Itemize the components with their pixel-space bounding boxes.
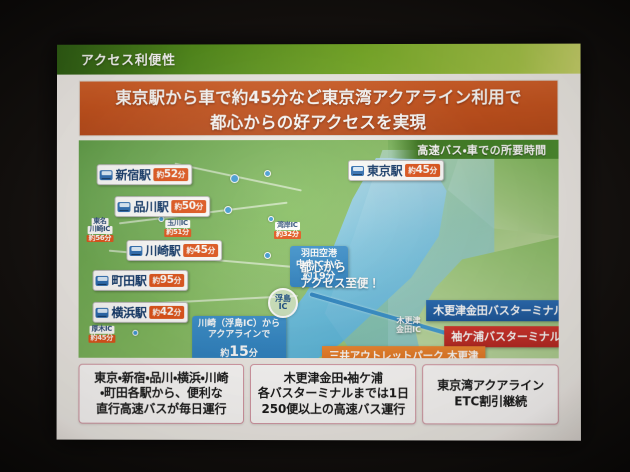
summary-box-etc-discount: 東京湾アクアライン ETC割引継続 — [423, 364, 559, 424]
station-pill-kawasaki[interactable]: 川崎駅 約45分 — [126, 240, 221, 261]
kisarazu-ic-line-1: 木更津 — [396, 316, 421, 325]
station-name: 横浜駅 — [111, 304, 146, 321]
access-map: 高速バス・車での所要時間 新宿駅 約52分 東京駅 約45分 — [79, 140, 559, 359]
station-name: 新宿駅 — [116, 166, 151, 183]
ic-label-tamagawa: 玉川IC 約51分 — [164, 220, 191, 237]
station-name: 川崎駅 — [145, 242, 180, 259]
station-time-badge: 約95分 — [150, 274, 184, 287]
callout-line-3: 約15分 — [198, 341, 280, 359]
ic-time: 約51分 — [164, 229, 191, 237]
ic-time: 約32分 — [274, 231, 301, 239]
ukishima-ic-marker: 浮島 IC — [268, 288, 298, 318]
outlet-label-mitsui-kisarazu[interactable]: 三井アウトレットパーク 木更津 — [322, 346, 485, 358]
map-node-shinjuku — [230, 174, 239, 183]
photographed-projection: アクセス利便性 東京駅から車で約45分など東京湾アクアライン利用で 都心からの好… — [0, 0, 630, 472]
note-line-2: アクセス至便！ — [300, 276, 380, 292]
station-pill-tokyo[interactable]: 東京駅 約45分 — [348, 160, 444, 181]
headline-box: 東京駅から車で約45分など東京湾アクアライン利用で 都心からの好アクセスを実現 — [79, 80, 559, 137]
headline-line-1: 東京駅から車で約45分など東京湾アクアライン利用で — [115, 83, 521, 108]
map-node-tokyo — [264, 170, 271, 177]
ic-label-atsugi: 厚木IC 約45分 — [89, 326, 116, 343]
station-time-badge: 約45分 — [405, 164, 439, 177]
summary-line-2: 各バスターミナルまでは1日 — [258, 386, 409, 402]
bus-icon — [351, 165, 364, 175]
station-pill-shinagawa[interactable]: 品川駅 約50分 — [115, 196, 210, 217]
callout-line-2: アクアラインで — [198, 330, 280, 341]
ukishima-line-2: IC — [279, 303, 288, 311]
station-time-badge: 約42分 — [150, 306, 184, 319]
bus-icon — [96, 275, 109, 285]
station-name: 品川駅 — [133, 198, 168, 215]
bus-icon — [129, 245, 142, 255]
summary-box-direct-bus: 東京・新宿・品川・横浜・川崎 ・町田各駅から、便利な 直行高速バスが毎日運行 — [78, 364, 244, 424]
ic-name-line1: 湾岸IC — [275, 222, 300, 230]
summary-line-1: 東京・新宿・品川・横浜・川崎 — [94, 370, 228, 386]
callout-line-1: 羽田空港 — [296, 249, 342, 260]
map-node-atsugi — [132, 330, 138, 336]
ic-time: 約56分 — [87, 235, 113, 243]
terminal-label-kisarazu-kaneda[interactable]: 木更津金田バスターミナル — [426, 300, 559, 321]
summary-boxes: 東京・新宿・品川・横浜・川崎 ・町田各駅から、便利な 直行高速バスが毎日運行 木… — [78, 364, 558, 425]
ic-name-line2: 川崎IC — [88, 226, 113, 234]
callout-kawasaki-aqualine: 川崎（浮島IC）から アクアラインで 約15分 — [192, 316, 286, 358]
station-pill-machida[interactable]: 町田駅 約95分 — [93, 270, 188, 291]
ic-time: 約45分 — [89, 335, 116, 343]
ic-name-line1: 厚木IC — [90, 326, 115, 334]
note-access-convenient: 都心から アクセス至便！ — [300, 260, 380, 291]
station-pill-shinjuku[interactable]: 新宿駅 約52分 — [97, 164, 192, 185]
summary-line-1: 木更津金田・袖ケ浦 — [284, 371, 383, 387]
map-node-shinagawa — [224, 206, 232, 214]
kisarazu-kaneda-ic-label: 木更津 金田IC — [396, 316, 421, 334]
kisarazu-ic-line-2: 金田IC — [396, 325, 421, 334]
ic-label-wangan: 湾岸IC 約32分 — [274, 222, 301, 239]
station-time-badge: 約50分 — [172, 200, 206, 213]
ic-name-line1: 玉川IC — [165, 220, 190, 228]
bus-icon — [118, 202, 131, 212]
summary-line-2: ETC割引継続 — [454, 394, 527, 410]
station-time-badge: 約52分 — [154, 168, 188, 181]
summary-line-3: 250便以上の高速バス運行 — [262, 402, 406, 418]
station-time-badge: 約45分 — [183, 244, 217, 257]
ic-label-tomei-kawasaki: 東名 川崎IC 約56分 — [87, 218, 114, 242]
summary-line-1: 東京湾アクアライン — [437, 379, 544, 395]
terminal-label-sodegaura[interactable]: 袖ケ浦バスターミナル — [444, 326, 559, 347]
station-name: 町田駅 — [111, 272, 146, 289]
map-node-kawasaki — [264, 252, 271, 259]
callout-line-1: 川崎（浮島IC）から — [198, 319, 280, 330]
headline-line-2: 都心からの好アクセスを実現 — [210, 108, 426, 132]
station-name: 東京駅 — [367, 162, 402, 179]
station-pill-yokohama[interactable]: 横浜駅 約42分 — [93, 302, 188, 323]
summary-line-2: ・町田各駅から、便利な — [100, 386, 222, 402]
bus-icon — [100, 170, 113, 180]
presentation-slide: アクセス利便性 東京駅から車で約45分など東京湾アクアライン利用で 都心からの好… — [57, 44, 581, 441]
bus-icon — [96, 307, 109, 317]
slide-header-band: アクセス利便性 — [57, 44, 581, 75]
slide-header-label: アクセス利便性 — [81, 49, 176, 68]
summary-line-3: 直行高速バスが毎日運行 — [96, 402, 226, 418]
map-title-banner: 高速バス・車での所要時間 — [391, 140, 558, 159]
summary-box-terminal-frequency: 木更津金田・袖ケ浦 各バスターミナルまでは1日 250便以上の高速バス運行 — [250, 364, 416, 424]
note-line-1: 都心から — [300, 260, 380, 276]
